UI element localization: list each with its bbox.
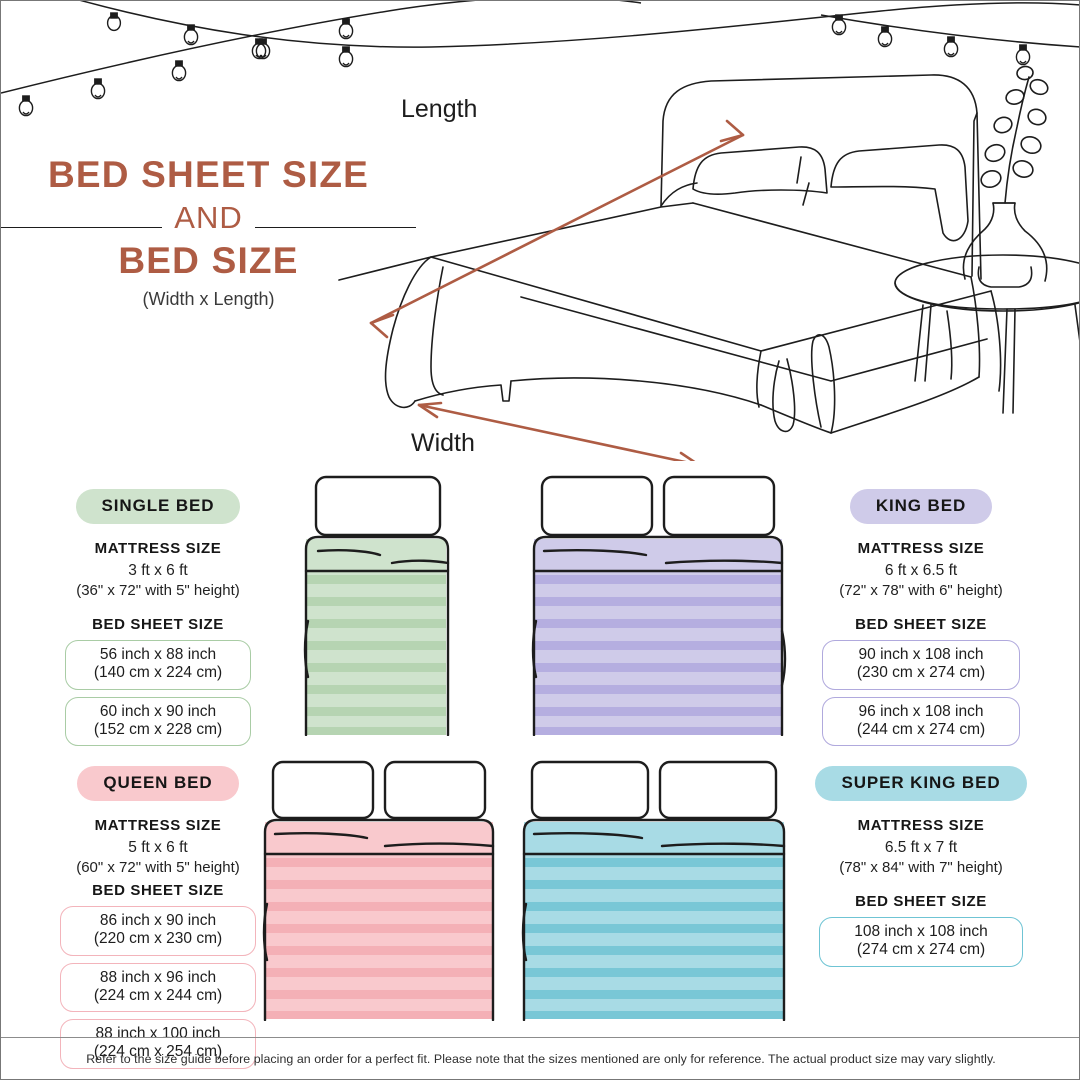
- infographic-canvas: BED SHEET SIZE AND BED SIZE (Width x Len…: [0, 0, 1080, 1080]
- sheet-inch: 88 inch x 96 inch: [69, 969, 247, 987]
- sheet-inch: 90 inch x 108 inch: [831, 646, 1011, 664]
- mattress-ft-king: 6 ft x 6.5 ft: [796, 562, 1046, 580]
- sheet-option[interactable]: 90 inch x 108 inch (230 cm x 274 cm): [822, 640, 1020, 690]
- footer-disclaimer-bar: Refer to the size guide before placing a…: [1, 1037, 1080, 1079]
- sheet-cm: (140 cm x 224 cm): [74, 664, 242, 682]
- card-queen-bed: QUEEN BED MATTRESS SIZE 5 ft x 6 ft (60"…: [33, 766, 283, 1069]
- mattress-in-queen: (60" x 72" with 5" height): [33, 859, 283, 876]
- bed-illustration-super-king: [516, 756, 791, 1021]
- mattress-in-superking: (78" x 84" with 7" height): [796, 859, 1046, 876]
- label-mattress-size-queen: MATTRESS SIZE: [33, 817, 283, 834]
- bed-illustration-queen: [259, 756, 499, 1021]
- sheet-cm: (244 cm x 274 cm): [831, 721, 1011, 739]
- mattress-ft-superking: 6.5 ft x 7 ft: [796, 839, 1046, 857]
- page-title-connector: AND: [162, 197, 254, 239]
- sheet-option[interactable]: 108 inch x 108 inch (274 cm x 274 cm): [819, 917, 1023, 967]
- sheet-inch: 86 inch x 90 inch: [69, 912, 247, 930]
- hero-length-label: Length: [401, 95, 477, 123]
- sheet-option[interactable]: 88 inch x 96 inch (224 cm x 244 cm): [60, 963, 256, 1013]
- sheet-cm: (220 cm x 230 cm): [69, 930, 247, 948]
- sheet-cm: (230 cm x 274 cm): [831, 664, 1011, 682]
- pill-super-king-bed: SUPER KING BED: [815, 766, 1026, 801]
- card-super-king-bed: SUPER KING BED MATTRESS SIZE 6.5 ft x 7 …: [796, 766, 1046, 967]
- bed-illustration-king: [526, 471, 791, 736]
- sheet-cm: (224 cm x 244 cm): [69, 987, 247, 1005]
- sheet-option[interactable]: 60 inch x 90 inch (152 cm x 228 cm): [65, 697, 251, 747]
- card-single-bed: SINGLE BED MATTRESS SIZE 3 ft x 6 ft (36…: [33, 489, 283, 746]
- pill-single-bed: SINGLE BED: [76, 489, 241, 524]
- pill-king-bed: KING BED: [850, 489, 992, 524]
- bed-illustration-single: [296, 471, 466, 736]
- label-mattress-size-single: MATTRESS SIZE: [33, 540, 283, 557]
- mattress-in-king: (72" x 78" with 6" height): [796, 582, 1046, 599]
- sheet-inch: 56 inch x 88 inch: [74, 646, 242, 664]
- sheet-cm: (152 cm x 228 cm): [74, 721, 242, 739]
- label-sheet-size-king: BED SHEET SIZE: [796, 616, 1046, 633]
- sheet-option[interactable]: 86 inch x 90 inch (220 cm x 230 cm): [60, 906, 256, 956]
- mattress-in-single: (36" x 72" with 5" height): [33, 582, 283, 599]
- pill-queen-bed: QUEEN BED: [77, 766, 238, 801]
- card-king-bed: KING BED MATTRESS SIZE 6 ft x 6.5 ft (72…: [796, 489, 1046, 746]
- footer-disclaimer-text: Refer to the size guide before placing a…: [86, 1052, 996, 1066]
- label-sheet-size-single: BED SHEET SIZE: [33, 616, 283, 633]
- sheet-inch: 108 inch x 108 inch: [828, 923, 1014, 941]
- mattress-ft-single: 3 ft x 6 ft: [33, 562, 283, 580]
- hero-width-label: Width: [411, 429, 475, 457]
- label-sheet-size-queen: BED SHEET SIZE: [33, 882, 283, 899]
- sheet-inch: 96 inch x 108 inch: [831, 703, 1011, 721]
- label-sheet-size-superking: BED SHEET SIZE: [796, 893, 1046, 910]
- hero-bed-illustration: Length Width: [331, 61, 1080, 461]
- sheet-option[interactable]: 56 inch x 88 inch (140 cm x 224 cm): [65, 640, 251, 690]
- sheet-inch: 60 inch x 90 inch: [74, 703, 242, 721]
- sheet-option[interactable]: 96 inch x 108 inch (244 cm x 274 cm): [822, 697, 1020, 747]
- mattress-ft-queen: 5 ft x 6 ft: [33, 839, 283, 857]
- label-mattress-size-superking: MATTRESS SIZE: [796, 817, 1046, 834]
- sheet-cm: (274 cm x 274 cm): [828, 941, 1014, 959]
- label-mattress-size-king: MATTRESS SIZE: [796, 540, 1046, 557]
